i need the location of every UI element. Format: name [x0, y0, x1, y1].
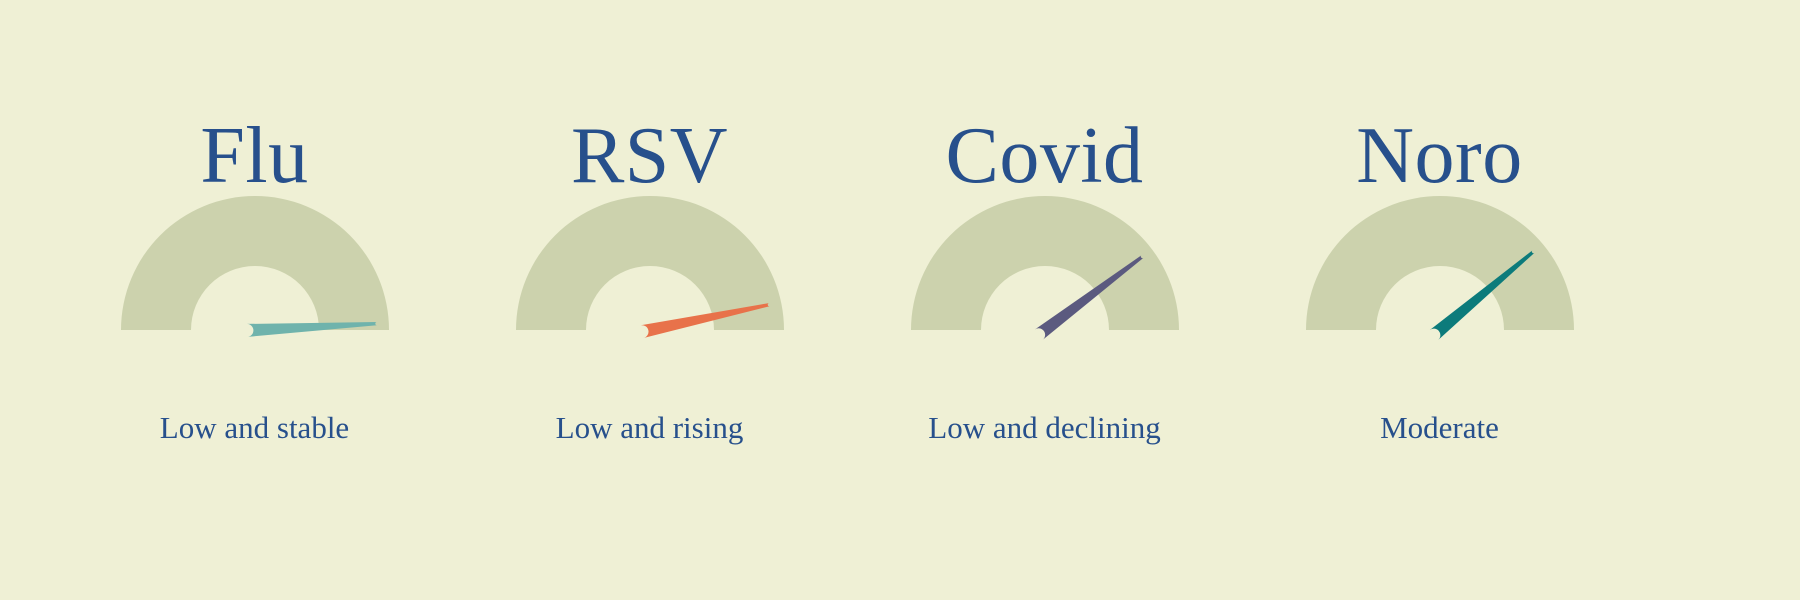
- title-slot: RSV: [571, 0, 728, 196]
- gauge-card-noro[interactable]: Noro Moderate: [1242, 0, 1637, 600]
- gauge-status-flu: Low and stable: [160, 412, 349, 443]
- title-slot: Covid: [945, 0, 1143, 196]
- label-slot: Low and rising: [556, 346, 744, 472]
- title-slot: Noro: [1356, 0, 1522, 196]
- gauge-card-rsv[interactable]: RSV Low and rising: [452, 0, 847, 600]
- gauge-arc-track: [1306, 196, 1574, 330]
- title-slot: Flu: [200, 0, 308, 196]
- gauge-icon: [516, 196, 784, 338]
- gauge-card-flu[interactable]: Flu Low and stable: [57, 0, 452, 600]
- dashboard-root: Flu Low and stable RSV: [0, 0, 1800, 600]
- gauge-grid: Flu Low and stable RSV: [0, 0, 1800, 600]
- gauge-slot: [516, 196, 784, 346]
- gauge-card-covid[interactable]: Covid Low and declining: [847, 0, 1242, 600]
- gauge-status-rsv: Low and rising: [556, 412, 744, 443]
- gauge-dial-rsv[interactable]: [516, 196, 784, 338]
- label-slot: Low and stable: [160, 346, 349, 472]
- gauge-arc-track: [911, 196, 1179, 330]
- gauge-title-noro: Noro: [1356, 116, 1522, 196]
- gauge-status-noro: Moderate: [1380, 412, 1499, 443]
- label-slot: Low and declining: [928, 346, 1160, 472]
- gauge-status-covid: Low and declining: [928, 412, 1160, 443]
- gauge-arc-track: [121, 196, 389, 330]
- gauge-slot: [1306, 196, 1574, 346]
- gauge-dial-covid[interactable]: [911, 196, 1179, 338]
- gauge-dial-noro[interactable]: [1306, 196, 1574, 338]
- gauge-title-flu: Flu: [200, 116, 308, 196]
- gauge-icon: [121, 196, 389, 338]
- gauge-dial-flu[interactable]: [121, 196, 389, 338]
- gauge-icon: [1306, 196, 1574, 338]
- gauge-slot: [911, 196, 1179, 346]
- label-slot: Moderate: [1380, 346, 1499, 472]
- gauge-title-covid: Covid: [945, 116, 1143, 196]
- gauge-icon: [911, 196, 1179, 338]
- gauge-slot: [121, 196, 389, 346]
- gauge-title-rsv: RSV: [571, 116, 728, 196]
